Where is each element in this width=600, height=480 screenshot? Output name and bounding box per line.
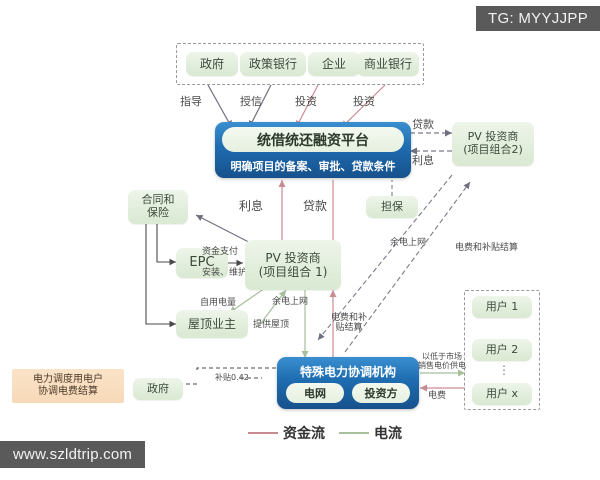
pv-investor-1-line2: (项目组合 1) — [259, 265, 328, 279]
label-interest-right-text: 利息 — [412, 154, 434, 167]
label-electricity-fee: 电费 — [428, 391, 446, 401]
user-item-2-label: 用户 2 — [486, 344, 519, 357]
label-payment-text: 资金支付 — [202, 247, 238, 257]
legend: 资金流 电流 — [248, 423, 402, 443]
label-fee-subsidy-left-2: 贴结算 — [335, 323, 362, 333]
pv-investor-2-line2: (项目组合2) — [463, 144, 523, 157]
label-investment-2-text: 投资 — [353, 95, 375, 108]
label-self-use-power-text: 自用电量 — [200, 298, 236, 308]
label-credit: 授信 — [240, 96, 262, 109]
financing-platform-subtitle-text: 明确项目的备案、审批、贷款条件 — [231, 158, 396, 174]
label-install-maintain-text: 安装、维护 — [202, 268, 247, 278]
legend-swatch-power-flow — [339, 432, 369, 434]
user-item-x-label: 用户 x — [486, 388, 518, 401]
pv-investor-portfolio-2[interactable]: PV 投资商 (项目组合2) — [452, 122, 534, 166]
contract-and-insurance[interactable]: 合同和 保险 — [128, 190, 188, 224]
label-subsidy-value: 补贴0.42 — [215, 373, 249, 382]
label-electricity-fee-text: 电费 — [428, 391, 446, 401]
roof-owner-label: 屋顶业主 — [188, 317, 236, 331]
wire-contract-branches — [146, 222, 176, 324]
label-interest-center: 利息 — [239, 200, 263, 214]
label-loan-right: 贷款 — [412, 119, 434, 132]
stakeholder-policy-bank-label: 政策银行 — [249, 57, 297, 71]
label-install-maintain: 安装、维护 — [202, 268, 247, 278]
label-loan-right-text: 贷款 — [412, 118, 434, 131]
financing-platform-title: 统借统还融资平台 — [222, 127, 404, 152]
label-payment: 资金支付 — [202, 247, 238, 257]
label-investment-2: 投资 — [353, 96, 375, 109]
stakeholder-commercial-bank[interactable]: 商业银行 — [357, 52, 419, 76]
label-self-use-power: 自用电量 — [200, 298, 236, 308]
label-investment-1-text: 投资 — [295, 95, 317, 108]
legend-item-money-flow: 资金流 — [248, 423, 325, 443]
user-item-1[interactable]: 用户 1 — [472, 296, 532, 318]
guarantee-box[interactable]: 担保 — [366, 196, 418, 218]
label-surplus-right: 余电上网 — [390, 238, 426, 248]
wire-platform-pv2 — [410, 133, 452, 151]
legend-label-money-flow: 资金流 — [283, 423, 325, 443]
user-item-x[interactable]: 用户 x — [472, 383, 532, 405]
site-watermark: www.szldtrip.com — [0, 441, 145, 468]
dispatch-settlement-box[interactable]: 电力调度用电户 协调电费结算 — [12, 369, 124, 403]
users-ellipsis-text: ⋮ — [498, 363, 510, 377]
roof-owner-box[interactable]: 屋顶业主 — [176, 310, 248, 338]
label-provide-roof-text: 提供屋顶 — [253, 320, 289, 330]
investor-chip-label: 投资方 — [365, 385, 398, 401]
users-ellipsis: ⋮ — [498, 364, 510, 378]
label-fee-subsidy-left: 电费和补 贴结算 — [330, 313, 368, 334]
stakeholder-enterprise-label: 企业 — [322, 57, 346, 71]
dispatch-line2: 协调电费结算 — [38, 386, 98, 398]
label-below-market-1: 以低于市场 — [422, 352, 462, 361]
user-item-2[interactable]: 用户 2 — [472, 339, 532, 361]
stakeholder-commercial-bank-label: 商业银行 — [364, 57, 412, 71]
wire-pv1-platform — [282, 180, 333, 248]
grid-chip-label: 电网 — [304, 385, 326, 401]
label-guidance-text: 指导 — [180, 95, 202, 108]
government-lower-label: 政府 — [147, 383, 169, 396]
label-fee-subsidy-right-text: 电费和补贴结算 — [455, 243, 518, 253]
user-item-1-label: 用户 1 — [486, 301, 519, 314]
site-watermark-text: www.szldtrip.com — [13, 446, 132, 463]
contract-line2: 保险 — [147, 207, 169, 220]
coordination-agency-title-text: 特殊电力协调机构 — [300, 363, 396, 380]
label-interest-right: 利息 — [412, 155, 434, 168]
label-surplus-right-text: 余电上网 — [390, 238, 426, 248]
telegram-watermark-text: TG: MYYJJPP — [488, 10, 588, 27]
pv-investor-portfolio-1[interactable]: PV 投资商 (项目组合 1) — [245, 240, 341, 290]
label-fee-subsidy-right: 电费和补贴结算 — [455, 243, 518, 253]
legend-label-power-flow: 电流 — [374, 423, 402, 443]
legend-item-power-flow: 电流 — [339, 423, 402, 443]
guarantee-label: 担保 — [381, 201, 403, 214]
financing-platform-subtitle: 明确项目的备案、审批、贷款条件 — [222, 155, 404, 176]
label-below-market-supply: 以低于市场 销售电价供电 — [414, 352, 470, 370]
label-credit-text: 授信 — [240, 95, 262, 108]
diagram-canvas: 政府 政策银行 企业 商业银行 指导 授信 投资 投资 统借统还融资平台 明确项… — [0, 0, 600, 480]
grid-chip[interactable]: 电网 — [286, 383, 344, 403]
stakeholder-government-label: 政府 — [200, 57, 224, 71]
label-fee-subsidy-left-1: 电费和补 — [331, 313, 367, 323]
pv-investor-1-line1: PV 投资商 — [265, 251, 320, 265]
label-loan-center: 贷款 — [303, 200, 327, 214]
label-surplus-left: 余电上网 — [272, 297, 308, 307]
label-investment-1: 投资 — [295, 96, 317, 109]
label-below-market-2: 销售电价供电 — [418, 361, 466, 370]
power-coordination-agency-box[interactable]: 特殊电力协调机构 电网 投资方 — [277, 357, 419, 409]
label-loan-center-text: 贷款 — [303, 199, 327, 213]
investor-chip[interactable]: 投资方 — [352, 383, 410, 403]
label-subsidy-value-text: 补贴0.42 — [215, 373, 249, 382]
label-provide-roof: 提供屋顶 — [253, 320, 289, 330]
stakeholder-policy-bank[interactable]: 政策银行 — [240, 52, 306, 76]
government-lower-box[interactable]: 政府 — [133, 378, 183, 400]
coordination-agency-title: 特殊电力协调机构 — [284, 362, 412, 380]
legend-swatch-money-flow — [248, 432, 278, 434]
stakeholder-enterprise[interactable]: 企业 — [308, 52, 360, 76]
stakeholder-government[interactable]: 政府 — [186, 52, 238, 76]
label-surplus-left-text: 余电上网 — [272, 297, 308, 307]
telegram-watermark: TG: MYYJJPP — [476, 6, 600, 31]
label-interest-center-text: 利息 — [239, 199, 263, 213]
label-guidance: 指导 — [180, 96, 202, 109]
financing-platform-title-text: 统借统还融资平台 — [257, 130, 369, 150]
financing-platform-box[interactable]: 统借统还融资平台 明确项目的备案、审批、贷款条件 — [215, 122, 411, 178]
dispatch-line1: 电力调度用电户 — [33, 374, 103, 386]
